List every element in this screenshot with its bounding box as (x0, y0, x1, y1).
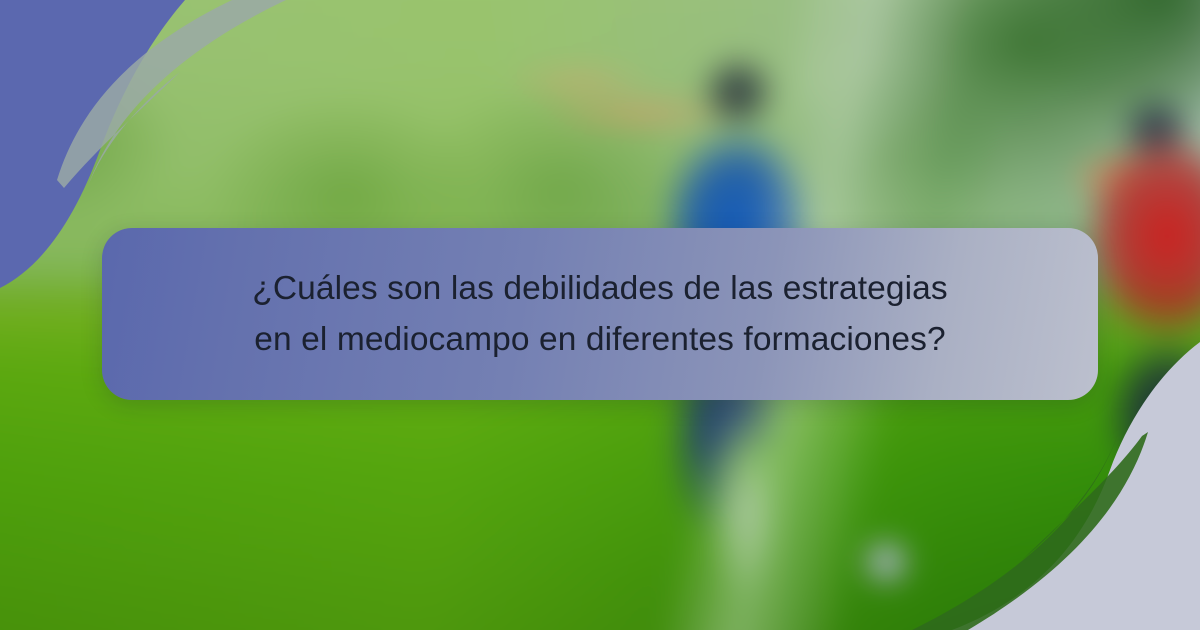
question-card: ¿Cuáles son las debilidades de las estra… (102, 228, 1098, 400)
social-card-canvas: ¿Cuáles son las debilidades de las estra… (0, 0, 1200, 630)
question-text: ¿Cuáles son las debilidades de las estra… (148, 263, 1052, 365)
